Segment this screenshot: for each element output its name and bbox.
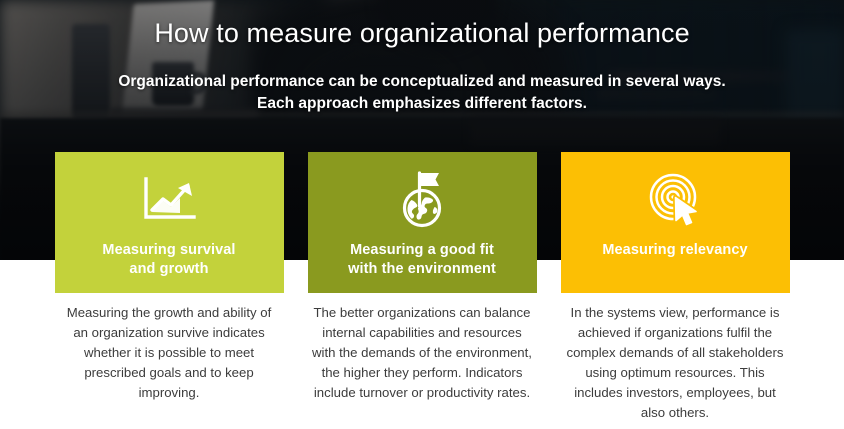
card-title: Measuring a good fit with the environmen… [340, 241, 504, 279]
card-title-line-2: and growth [102, 260, 235, 279]
globe-flag-icon [391, 169, 453, 231]
target-cursor-icon [644, 169, 706, 231]
page-title: How to measure organizational performanc… [0, 17, 844, 51]
card-title-line-1: Measuring relevancy [602, 241, 747, 260]
card-title-line-1: Measuring a good fit [348, 241, 496, 260]
card-title-line-2: with the environment [348, 260, 496, 279]
card-row: Measuring survival and growth [0, 152, 844, 293]
hero-subtitle: Organizational performance can be concep… [0, 71, 844, 115]
hero-subtitle-line-2: Each approach emphasizes different facto… [0, 93, 844, 115]
card-description-relevancy: In the systems view, performance is achi… [561, 303, 790, 423]
card-title-line-1: Measuring survival [102, 241, 235, 260]
card-description-good-fit-environment: The better organizations can balance int… [308, 303, 537, 423]
card-measuring-survival-and-growth[interactable]: Measuring survival and growth [55, 152, 284, 293]
card-description-survival-and-growth: Measuring the growth and ability of an o… [55, 303, 284, 423]
card-title: Measuring survival and growth [94, 241, 243, 279]
card-measuring-relevancy[interactable]: Measuring relevancy [561, 152, 790, 293]
infographic-slide: How to measure organizational performanc… [0, 0, 844, 429]
card-description-row: Measuring the growth and ability of an o… [0, 303, 844, 423]
hero-text-block: How to measure organizational performanc… [0, 0, 844, 115]
hero-subtitle-line-1: Organizational performance can be concep… [0, 71, 844, 93]
line-chart-growth-icon [138, 169, 200, 231]
card-measuring-a-good-fit-with-the-environment[interactable]: Measuring a good fit with the environmen… [308, 152, 537, 293]
card-title: Measuring relevancy [594, 241, 755, 260]
